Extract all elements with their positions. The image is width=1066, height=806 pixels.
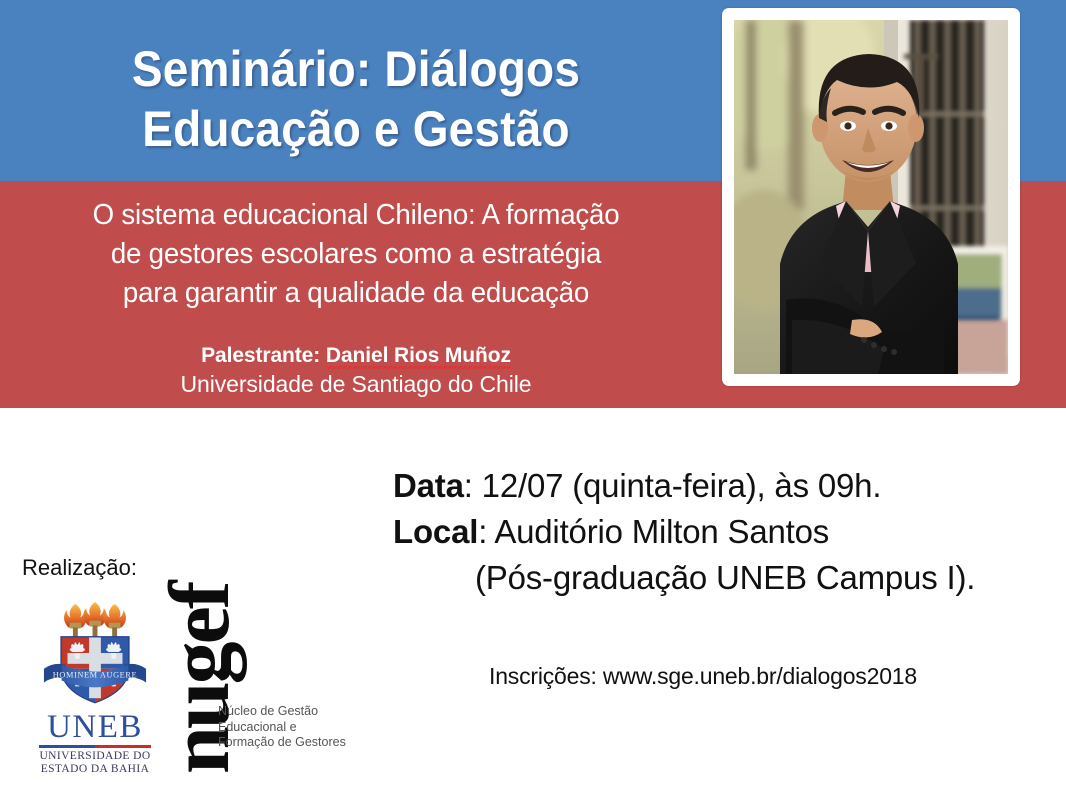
nugef-desc-line-1: Núcleo de Gestão [218, 704, 346, 720]
event-place-line: Local: Auditório Milton Santos [393, 509, 1013, 555]
speaker-name: Daniel Rios Muñoz [326, 344, 511, 369]
poster-subtitle: O sistema educacional Chileno: A formaçã… [0, 196, 712, 313]
event-date-value: : 12/07 (quinta-feira), às 09h. [464, 467, 882, 504]
poster-title: Seminário: Diálogos Educação e Gestão [0, 39, 712, 159]
speaker-name-line: Palestrante: Daniel Rios Muñoz [0, 342, 712, 369]
uneb-crest-icon: HOMINEM AUGERE [36, 600, 154, 708]
nugef-desc-line-2: Educacional e [218, 720, 346, 736]
nugef-desc-line-3: Formação de Gestores [218, 735, 346, 751]
event-place-extra: (Pós-graduação UNEB Campus I). [393, 555, 1013, 601]
signup-line[interactable]: Inscrições: www.sge.uneb.br/dialogos2018 [393, 661, 1013, 691]
organizer-logos: HOMINEM AUGERE UNEB UNIVERSIDADE DO ESTA… [20, 600, 340, 780]
speaker-affiliation: Universidade de Santiago do Chile [0, 369, 712, 399]
event-place-value: : Auditório Milton Santos [478, 513, 829, 550]
uneb-rule [39, 745, 151, 748]
title-line-2: Educação e Gestão [28, 99, 683, 159]
uneb-subtitle-1: UNIVERSIDADE DO [30, 750, 160, 763]
uneb-acronym: UNEB [30, 710, 160, 744]
title-line-1: Seminário: Diálogos [28, 39, 683, 99]
subtitle-line-3: para garantir a qualidade da educação [11, 274, 702, 313]
nugef-description: Núcleo de Gestão Educacional e Formação … [218, 704, 346, 751]
speaker-photo-illustration [734, 20, 1008, 374]
nugef-logo: nugef Núcleo de Gestão Educacional e For… [160, 600, 340, 770]
event-date-label: Data [393, 467, 464, 504]
event-poster: Seminário: Diálogos Educação e Gestão O … [0, 0, 1066, 806]
speaker-block: Palestrante: Daniel Rios Muñoz Universid… [0, 342, 712, 399]
event-details: Data: 12/07 (quinta-feira), às 09h. Loca… [393, 463, 1013, 601]
uneb-subtitle-2: ESTADO DA BAHIA [30, 763, 160, 776]
realizacao-label: Realização: [22, 554, 137, 582]
uneb-motto: HOMINEM AUGERE [53, 671, 137, 680]
speaker-photo [734, 20, 1008, 374]
nugef-wordmark: nugef [156, 624, 242, 774]
event-place-label: Local [393, 513, 478, 550]
speaker-photo-frame [722, 8, 1020, 386]
speaker-label: Palestrante: [201, 344, 320, 367]
subtitle-line-2: de gestores escolares como a estratégia [11, 235, 702, 274]
event-date-line: Data: 12/07 (quinta-feira), às 09h. [393, 463, 1013, 509]
subtitle-line-1: O sistema educacional Chileno: A formaçã… [11, 196, 702, 235]
uneb-logo: HOMINEM AUGERE UNEB UNIVERSIDADE DO ESTA… [30, 600, 160, 776]
